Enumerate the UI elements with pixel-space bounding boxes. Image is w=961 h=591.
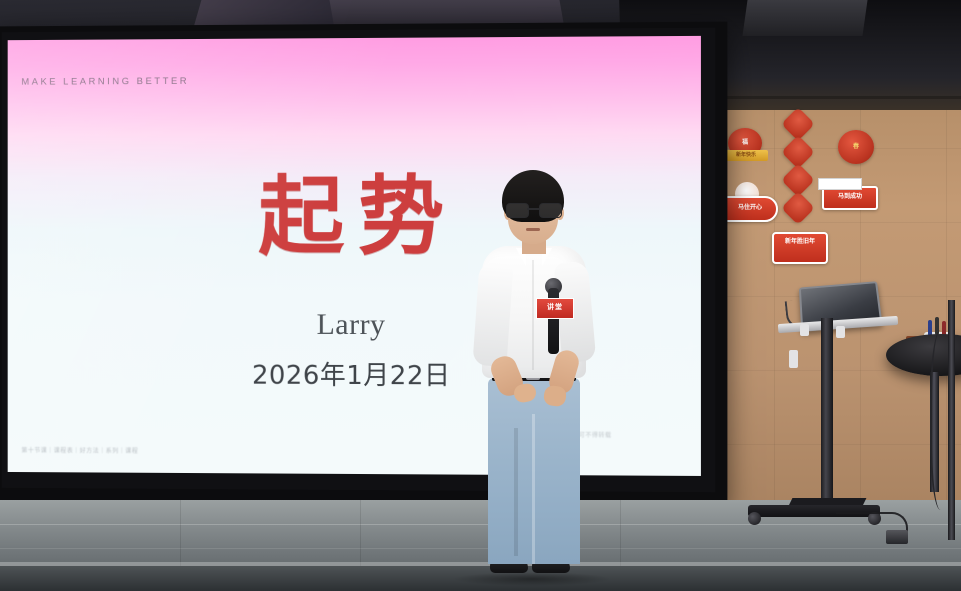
stage-tile-line-2 bbox=[360, 500, 361, 566]
slide-footnote: 第十节课｜课程表｜好方法｜系列｜课程 bbox=[21, 445, 138, 455]
shirt-sleeve-left bbox=[472, 261, 513, 367]
projection-screen-frame: MAKE LEARNING BETTER 起势 Larry 2026年1月22日… bbox=[0, 22, 727, 507]
presenter: 讲堂 bbox=[470, 170, 600, 580]
arrow-card-left-decor: 马住开心 bbox=[722, 196, 778, 222]
ceiling-light-fixture bbox=[742, 0, 867, 36]
floor-power-box bbox=[886, 530, 908, 544]
stand-pole bbox=[821, 318, 833, 508]
gold-banner-decor: 新年快乐 bbox=[724, 150, 768, 161]
right-mic-stand-pole bbox=[948, 300, 955, 540]
lecture-hall-scene: 福 新年快乐 春 马住开心 马到成功 新年胜旧年 MAKE LEARNING B… bbox=[0, 0, 961, 591]
presenter-mouth bbox=[526, 228, 540, 231]
tray-clip-right bbox=[836, 326, 845, 338]
projection-screen-inner-bezel: MAKE LEARNING BETTER 起势 Larry 2026年1月22日… bbox=[2, 28, 715, 492]
microphone-flag: 讲堂 bbox=[536, 298, 574, 319]
glasses-lens-left bbox=[506, 203, 529, 218]
slide-brand-tagline: MAKE LEARNING BETTER bbox=[21, 76, 189, 88]
rectangle-card-top-strip bbox=[818, 178, 862, 190]
microphone-flag-label: 讲堂 bbox=[537, 299, 573, 316]
round-flower-medallion-decor: 春 bbox=[838, 130, 874, 164]
stage-tile-line-3 bbox=[620, 500, 621, 566]
glasses-lens-right bbox=[539, 203, 562, 218]
presenter-jeans bbox=[488, 378, 580, 564]
tray-clip-under bbox=[789, 350, 798, 368]
jeans-leg-gap bbox=[514, 428, 518, 556]
glasses-bridge bbox=[527, 208, 539, 210]
eyeglasses bbox=[506, 203, 560, 216]
shirt-placket bbox=[532, 260, 534, 370]
stage-tile-line-1 bbox=[180, 500, 181, 566]
stand-caster-left bbox=[748, 512, 761, 525]
bottom-banner-decor: 新年胜旧年 bbox=[772, 232, 828, 264]
tray-clip-left bbox=[800, 324, 809, 336]
wall-seam bbox=[700, 96, 961, 99]
